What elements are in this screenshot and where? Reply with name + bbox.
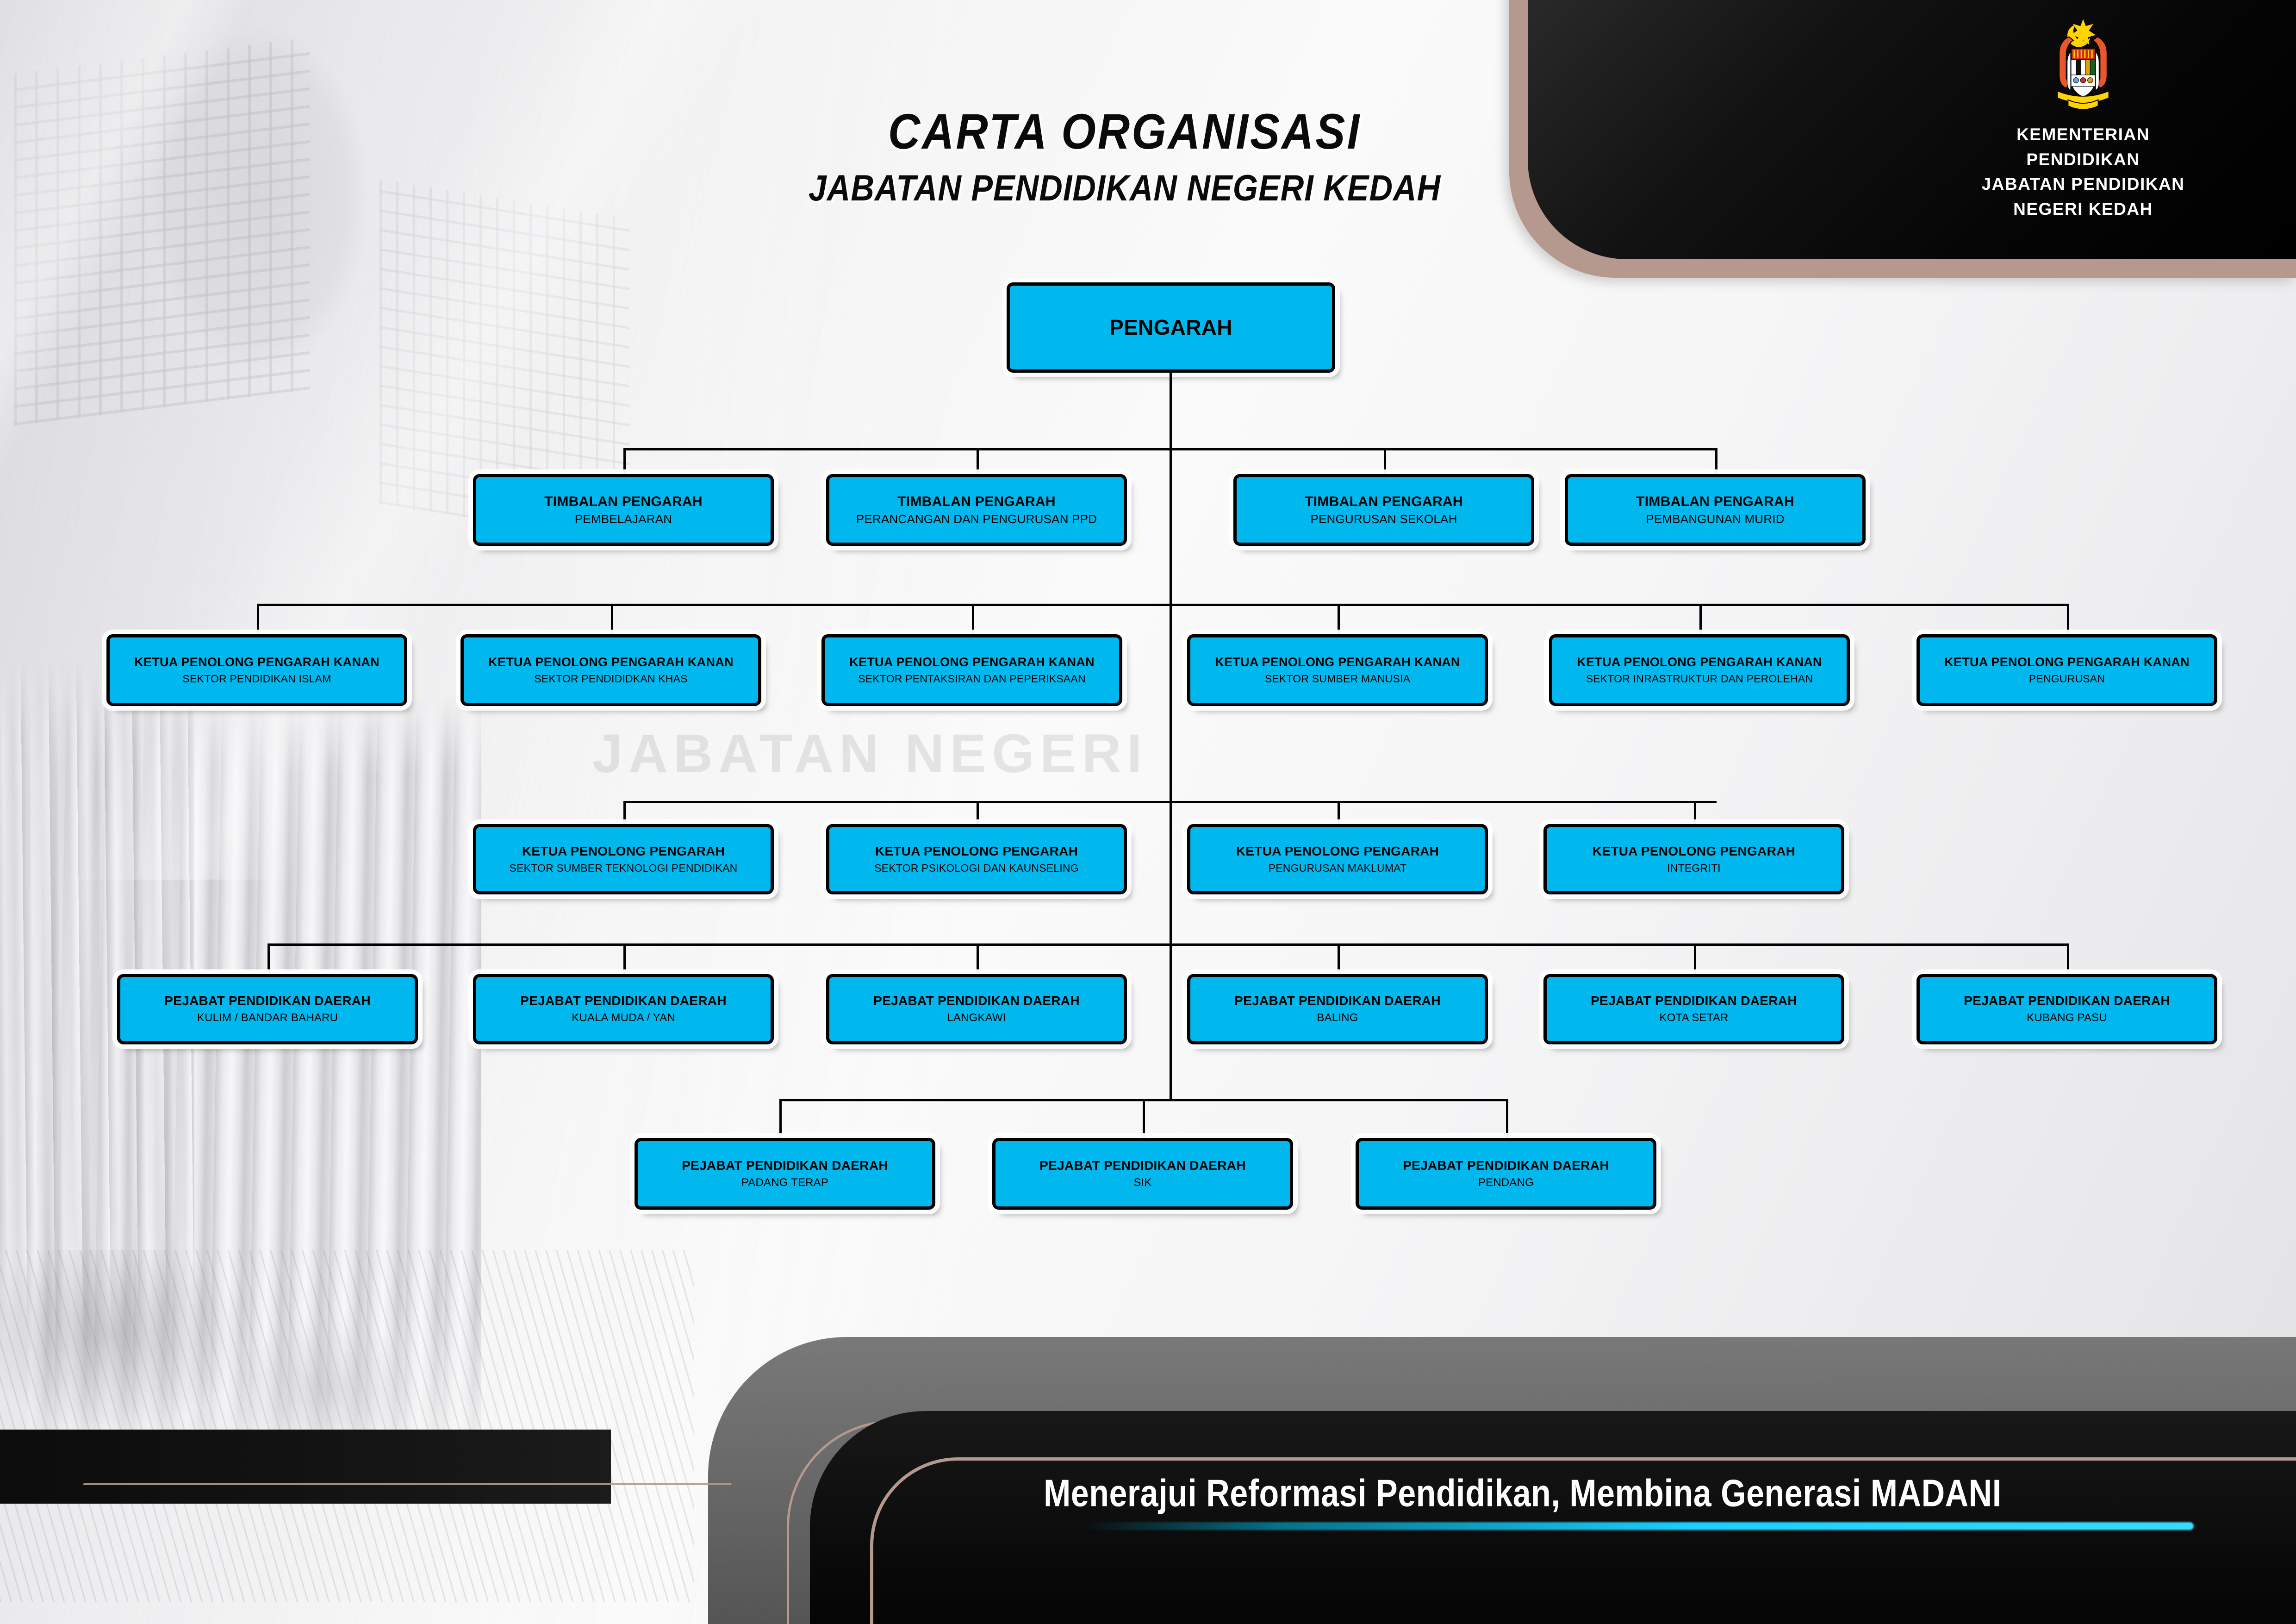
node-title: PEJABAT PENDIDIKAN DAERAH [873, 994, 1080, 1008]
footer-diagonal-tan-line [83, 1483, 732, 1485]
node-subtitle: KUALA MUDA / YAN [572, 1012, 675, 1024]
connector-drop-l5-4 [1694, 943, 1696, 975]
node-title: KETUA PENOLONG PENGARAH [1236, 844, 1439, 859]
connector-drop-l4-3 [1694, 801, 1696, 825]
page-subtitle: JABATAN PENDIDIKAN NEGERI KEDAH [639, 167, 1611, 209]
node-title: PEJABAT PENDIDIKAN DAERAH [1403, 1159, 1609, 1173]
connector-spine-l2-l3 [1170, 448, 1172, 606]
node-l6-0[interactable]: PEJABAT PENDIDIKAN DAERAH PADANG TERAP [635, 1138, 935, 1210]
node-title: KETUA PENOLONG PENGARAH KANAN [134, 656, 380, 669]
connector-drop-l5-3 [1338, 943, 1340, 975]
node-title: KETUA PENOLONG PENGARAH KANAN [849, 656, 1095, 669]
node-subtitle: KOTA SETAR [1659, 1012, 1728, 1024]
node-root-pengarah[interactable]: PENGARAH [1007, 282, 1335, 373]
node-subtitle: SEKTOR INRASTRUKTUR DAN PEROLEHAN [1586, 673, 1813, 685]
node-subtitle: SEKTOR PENDIDIKAN ISLAM [182, 673, 331, 685]
node-title: KETUA PENOLONG PENGARAH [1593, 844, 1795, 859]
node-title: TIMBALAN PENGARAH [897, 494, 1056, 509]
node-l2-0[interactable]: TIMBALAN PENGARAH PEMBELAJARAN [473, 474, 774, 546]
node-title: PEJABAT PENDIDIKAN DAERAH [164, 994, 371, 1008]
node-subtitle: PERANCANGAN DAN PENGURUSAN PPD [856, 512, 1097, 526]
node-l4-2[interactable]: KETUA PENOLONG PENGARAH PENGURUSAN MAKLU… [1187, 824, 1488, 894]
node-subtitle: PENDANG [1478, 1176, 1534, 1189]
ministry-line-2: JABATAN PENDIDIKAN NEGERI KEDAH [1981, 172, 2185, 221]
page-title: CARTA ORGANISASI [639, 103, 1611, 160]
node-title: PEJABAT PENDIDIKAN DAERAH [1964, 994, 2170, 1008]
page-title-block: CARTA ORGANISASI JABATAN PENDIDIKAN NEGE… [639, 106, 1611, 206]
node-title: KETUA PENOLONG PENGARAH [875, 844, 1078, 859]
node-title: TIMBALAN PENGARAH [544, 494, 703, 509]
node-title: PEJABAT PENDIDIKAN DAERAH [682, 1159, 888, 1173]
node-l5-3[interactable]: PEJABAT PENDIDIKAN DAERAH BALING [1187, 974, 1488, 1044]
connector-drop-l2-3 [1715, 448, 1717, 477]
node-subtitle: SEKTOR SUMBER TEKNOLOGI PENDIDIKAN [510, 862, 738, 874]
footer-cyan-accent-bar [1083, 1522, 2194, 1530]
footer-panel: Menerajui Reformasi Pendidikan, Membina … [0, 1226, 2296, 1624]
connector-bus-level5 [268, 943, 2068, 946]
node-l3-5[interactable]: KETUA PENOLONG PENGARAH KANAN PENGURUSAN [1916, 634, 2217, 706]
connector-root-down [1170, 373, 1172, 449]
connector-spine-l5-l6 [1170, 943, 1172, 1101]
connector-spine-l3-l4 [1170, 604, 1172, 803]
header-logo-block: KEMENTERIAN PENDIDIKAN JABATAN PENDIDIKA… [1981, 9, 2185, 222]
node-subtitle: PENGURUSAN [2029, 673, 2105, 685]
footer-tagline: Menerajui Reformasi Pendidikan, Membina … [1044, 1471, 2002, 1515]
connector-drop-l6-1 [1143, 1099, 1145, 1139]
node-subtitle: BALING [1317, 1012, 1358, 1024]
node-l5-5[interactable]: PEJABAT PENDIDIKAN DAERAH KUBANG PASU [1916, 974, 2217, 1044]
node-subtitle: LANGKAWI [947, 1012, 1006, 1024]
node-l5-2[interactable]: PEJABAT PENDIDIKAN DAERAH LANGKAWI [826, 974, 1127, 1044]
node-title: TIMBALAN PENGARAH [1305, 494, 1463, 509]
node-l6-1[interactable]: PEJABAT PENDIDIKAN DAERAH SIK [992, 1138, 1293, 1210]
connector-drop-l4-2 [1338, 801, 1340, 825]
connector-drop-l6-2 [1506, 1099, 1508, 1139]
node-subtitle: PENGURUSAN MAKLUMAT [1269, 862, 1407, 874]
connector-drop-l5-2 [977, 943, 979, 975]
node-subtitle: PADANG TERAP [741, 1176, 828, 1189]
connector-drop-l3-5 [2067, 604, 2069, 635]
node-l4-1[interactable]: KETUA PENOLONG PENGARAH SEKTOR PSIKOLOGI… [826, 824, 1127, 894]
connector-drop-l3-3 [1338, 604, 1340, 635]
node-l2-2[interactable]: TIMBALAN PENGARAH PENGURUSAN SEKOLAH [1233, 474, 1534, 546]
connector-drop-l4-0 [623, 801, 626, 825]
node-title: PEJABAT PENDIDIKAN DAERAH [1591, 994, 1797, 1008]
connector-drop-l2-1 [977, 448, 979, 477]
connector-spine-l4-l5 [1170, 801, 1172, 945]
node-l4-3[interactable]: KETUA PENOLONG PENGARAH INTEGRITI [1543, 824, 1844, 894]
node-title: PEJABAT PENDIDIKAN DAERAH [1234, 994, 1441, 1008]
node-subtitle: PEMBELAJARAN [575, 512, 672, 526]
node-title: KETUA PENOLONG PENGARAH KANAN [1944, 656, 2190, 669]
connector-drop-l5-0 [268, 943, 270, 975]
node-l5-0[interactable]: PEJABAT PENDIDIKAN DAERAH KULIM / BANDAR… [117, 974, 418, 1044]
node-l5-4[interactable]: PEJABAT PENDIDIKAN DAERAH KOTA SETAR [1543, 974, 1844, 1044]
connector-drop-l3-2 [972, 604, 974, 635]
node-l2-3[interactable]: TIMBALAN PENGARAH PEMBANGUNAN MURID [1565, 474, 1866, 546]
node-l3-0[interactable]: KETUA PENOLONG PENGARAH KANAN SEKTOR PEN… [106, 634, 407, 706]
node-subtitle: SEKTOR SUMBER MANUSIA [1265, 673, 1410, 685]
ministry-line-1: KEMENTERIAN PENDIDIKAN [1981, 122, 2185, 172]
node-title: KETUA PENOLONG PENGARAH KANAN [1215, 656, 1460, 669]
connector-drop-l4-1 [977, 801, 979, 825]
node-subtitle: SEKTOR PENDIDIDKAN KHAS [534, 673, 687, 685]
node-subtitle: PEMBANGUNAN MURID [1646, 512, 1785, 526]
node-l3-2[interactable]: KETUA PENOLONG PENGARAH KANAN SEKTOR PEN… [821, 634, 1122, 706]
node-subtitle: SEKTOR PENTAKSIRAN DAN PEPERIKSAAN [858, 673, 1086, 685]
node-l3-3[interactable]: KETUA PENOLONG PENGARAH KANAN SEKTOR SUM… [1187, 634, 1488, 706]
node-l4-0[interactable]: KETUA PENOLONG PENGARAH SEKTOR SUMBER TE… [473, 824, 774, 894]
malaysia-coat-of-arms-icon [2030, 9, 2136, 116]
connector-drop-l3-0 [257, 604, 259, 635]
connector-drop-l5-1 [623, 943, 626, 975]
node-subtitle: SIK [1133, 1176, 1151, 1189]
node-title: PEJABAT PENDIDIKAN DAERAH [1039, 1159, 1246, 1173]
connector-drop-l6-0 [779, 1099, 782, 1139]
connector-drop-l3-1 [611, 604, 613, 635]
node-subtitle: KUBANG PASU [2027, 1012, 2107, 1024]
connector-drop-l2-0 [623, 448, 626, 477]
node-l3-1[interactable]: KETUA PENOLONG PENGARAH KANAN SEKTOR PEN… [460, 634, 761, 706]
node-l2-1[interactable]: TIMBALAN PENGARAH PERANCANGAN DAN PENGUR… [826, 474, 1127, 546]
connector-drop-l5-5 [2067, 943, 2069, 975]
connector-drop-l3-4 [1699, 604, 1702, 635]
node-title: KETUA PENOLONG PENGARAH KANAN [488, 656, 734, 669]
node-subtitle: INTEGRITI [1667, 862, 1721, 874]
node-l5-1[interactable]: PEJABAT PENDIDIKAN DAERAH KUALA MUDA / Y… [473, 974, 774, 1044]
node-title: PEJABAT PENDIDIKAN DAERAH [520, 994, 727, 1008]
node-l3-4[interactable]: KETUA PENOLONG PENGARAH KANAN SEKTOR INR… [1549, 634, 1850, 706]
node-title: TIMBALAN PENGARAH [1636, 494, 1794, 509]
node-title: PENGARAH [1109, 316, 1232, 339]
connector-bus-level3 [257, 604, 2068, 606]
connector-drop-l2-2 [1384, 448, 1386, 477]
node-l6-2[interactable]: PEJABAT PENDIDIKAN DAERAH PENDANG [1356, 1138, 1656, 1210]
node-subtitle: KULIM / BANDAR BAHARU [197, 1012, 338, 1024]
node-title: KETUA PENOLONG PENGARAH [522, 844, 725, 859]
node-subtitle: PENGURUSAN SEKOLAH [1310, 512, 1457, 526]
node-title: KETUA PENOLONG PENGARAH KANAN [1577, 656, 1822, 669]
node-subtitle: SEKTOR PSIKOLOGI DAN KAUNSELING [874, 862, 1079, 874]
